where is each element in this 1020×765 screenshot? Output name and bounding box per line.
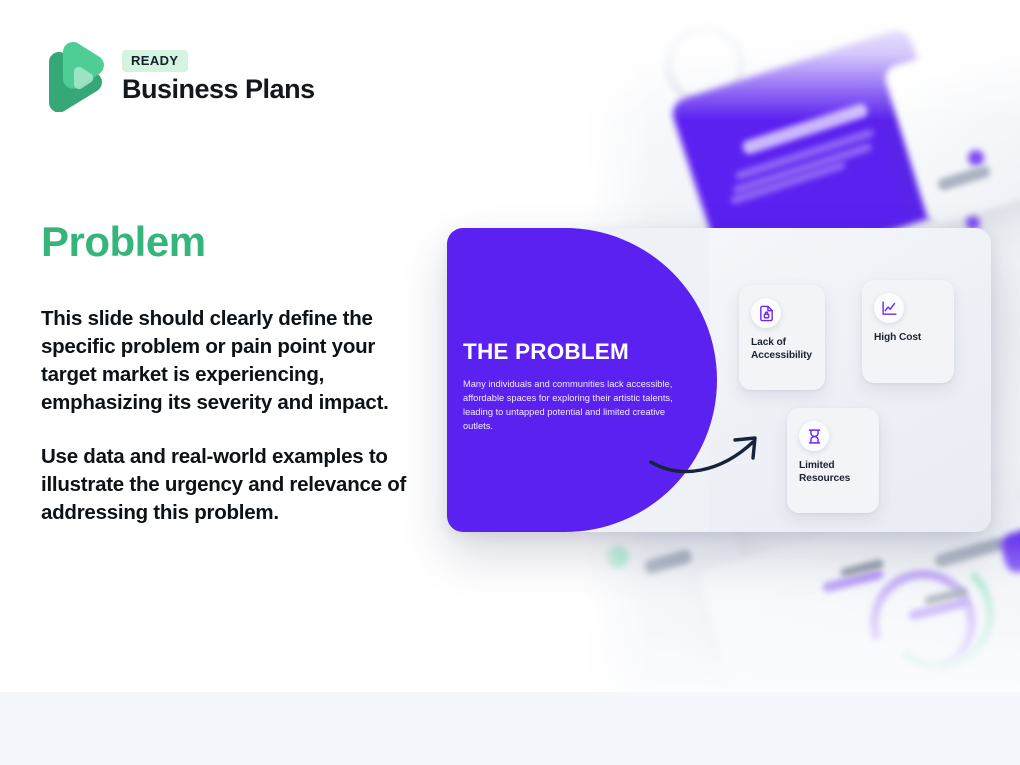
description-paragraph: This slide should clearly define the spe… [41,305,426,417]
brand-text-block: READY Business Plans [122,48,315,104]
slide-preview-card[interactable]: THE PROBLEM Many individuals and communi… [447,228,991,532]
brand-lockup: READY Business Plans [41,40,315,112]
description-paragraph: Use data and real-world examples to illu… [41,443,426,527]
curved-arrow-icon [647,418,787,478]
ready-badge: READY [122,50,188,72]
brand-title: Business Plans [122,74,315,104]
bottom-band [0,692,1020,765]
page-title: Problem [41,218,206,266]
feature-tile-label: Limited Resources [799,460,867,485]
feature-tile-limited-resources[interactable]: Limited Resources [787,408,879,513]
feature-tile-accessibility[interactable]: Lack of Accessibility [739,285,825,390]
preview-heading: THE PROBLEM [463,340,687,365]
page-description: This slide should clearly define the spe… [41,305,426,528]
bg-accent-dot [606,546,628,568]
feature-tile-high-cost[interactable]: High Cost [862,280,954,383]
preview-body-text: Many individuals and communities lack ac… [463,377,675,434]
slide-root: READY Business Plans Problem This slide … [0,0,1020,765]
play-triangles-logo-icon [41,40,107,112]
document-lock-icon [751,298,781,328]
feature-tile-label: Lack of Accessibility [751,337,813,362]
line-chart-icon [874,293,904,323]
feature-tile-label: High Cost [874,332,942,345]
hourglass-icon [799,421,829,451]
bg-accent-dot [968,150,984,166]
